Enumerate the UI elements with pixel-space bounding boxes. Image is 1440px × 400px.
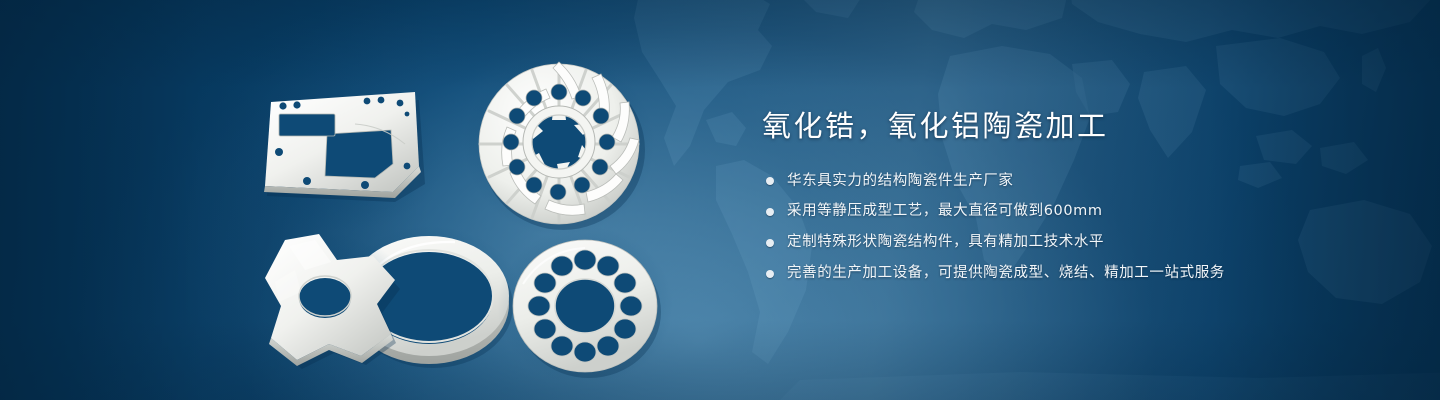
ceramic-holed-disc-part	[497, 226, 673, 380]
feature-text: 定制特殊形状陶瓷结构件，具有精加工技术水平	[787, 232, 1104, 254]
page-title: 氧化锆，氧化铝陶瓷加工	[762, 108, 1362, 145]
list-item: 华东具实力的结构陶瓷件生产厂家	[766, 171, 1362, 193]
bullet-dot-icon	[766, 177, 774, 185]
list-item: 采用等静压成型工艺，最大直径可做到600mm	[766, 201, 1362, 223]
banner-copy: 氧化锆，氧化铝陶瓷加工 华东具实力的结构陶瓷件生产厂家 采用等静压成型工艺，最大…	[762, 108, 1362, 285]
feature-text: 完善的生产加工设备，可提供陶瓷成型、烧结、精加工一站式服务	[787, 263, 1225, 285]
promo-banner: 氧化锆，氧化铝陶瓷加工 华东具实力的结构陶瓷件生产厂家 采用等静压成型工艺，最大…	[0, 0, 1440, 400]
ceramic-impeller-part	[463, 52, 655, 236]
ceramic-flat-plate-part	[225, 88, 445, 232]
ceramic-star-part	[235, 232, 411, 369]
bullet-dot-icon	[766, 239, 774, 247]
list-item: 定制特殊形状陶瓷结构件，具有精加工技术水平	[766, 232, 1362, 254]
ceramic-products-image	[215, 40, 695, 380]
feature-text: 华东具实力的结构陶瓷件生产厂家	[787, 171, 1014, 193]
bullet-dot-icon	[766, 208, 774, 216]
feature-text: 采用等静压成型工艺，最大直径可做到600mm	[787, 201, 1103, 223]
list-item: 完善的生产加工设备，可提供陶瓷成型、烧结、精加工一站式服务	[766, 263, 1362, 285]
feature-list: 华东具实力的结构陶瓷件生产厂家 采用等静压成型工艺，最大直径可做到600mm 定…	[766, 171, 1362, 285]
bullet-dot-icon	[766, 270, 774, 278]
